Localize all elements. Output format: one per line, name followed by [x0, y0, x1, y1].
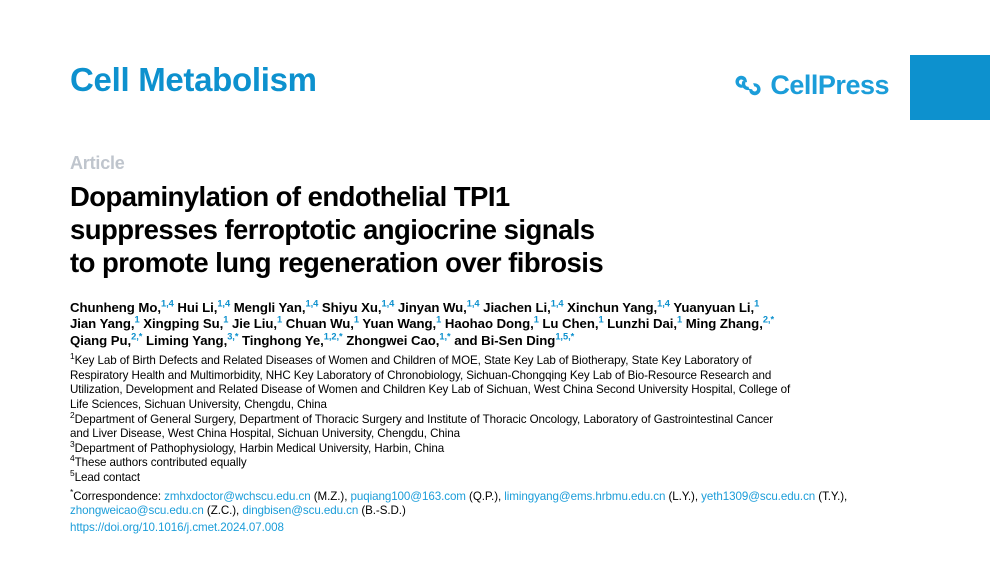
affiliation-item: 3Department of Pathophysiology, Harbin M…	[70, 442, 920, 457]
article-type-label: Article	[70, 152, 920, 174]
correspondence-initials: (L.Y.),	[665, 490, 701, 503]
brand-color-block	[910, 55, 990, 120]
author-affiliation-mark: 2,*	[131, 331, 142, 341]
author-line: Chunheng Mo,1,4 Hui Li,1,4 Mengli Yan,1,…	[70, 300, 920, 316]
affiliation-line: 2Department of General Surgery, Departme…	[70, 413, 920, 428]
affiliation-item: 1Key Lab of Birth Defects and Related Di…	[70, 354, 920, 412]
author-name: Haohao Dong,	[441, 316, 533, 331]
correspondence-block: *Correspondence: zmhxdoctor@wchscu.edu.c…	[70, 490, 900, 519]
cellpress-logo[interactable]: CellPress	[735, 72, 889, 99]
correspondence-email[interactable]: limingyang@ems.hrbmu.edu.cn	[504, 490, 665, 503]
affiliation-line: Life Sciences, Sichuan University, Cheng…	[70, 398, 920, 413]
author-list: Chunheng Mo,1,4 Hui Li,1,4 Mengli Yan,1,…	[70, 300, 920, 349]
affiliation-number: 1	[70, 351, 75, 361]
author-name: Chunheng Mo,	[70, 300, 161, 315]
affiliation-list: 1Key Lab of Birth Defects and Related Di…	[70, 354, 920, 485]
correspondence-label: Correspondence:	[73, 490, 164, 503]
correspondence-initials: (T.Y.),	[815, 490, 847, 503]
affiliation-number: 5	[70, 468, 75, 478]
title-line: suppresses ferroptotic angiocrine signal…	[70, 213, 920, 246]
author-name: Lunzhi Dai,	[604, 316, 677, 331]
author-affiliation-mark: 1,2,*	[324, 331, 343, 341]
correspondence-initials: (M.Z.),	[311, 490, 351, 503]
affiliation-line: 4These authors contributed equally	[70, 456, 920, 471]
author-name: Lu Chen,	[539, 316, 599, 331]
author-affiliation-mark: 1,4	[382, 299, 395, 309]
article-header-page: Cell Metabolism CellPress Article Dopami…	[0, 0, 990, 575]
affiliation-number: 4	[70, 454, 75, 464]
author-affiliation-mark: 1,4	[657, 299, 670, 309]
correspondence-email[interactable]: puqiang100@163.com	[350, 490, 465, 503]
correspondence-initials: (Z.C.),	[204, 504, 243, 517]
correspondence-initials: (B.-S.D.)	[358, 504, 406, 517]
cellpress-link-icon	[735, 74, 761, 97]
author-name: Liming Yang,	[142, 333, 227, 348]
affiliation-item: 4These authors contributed equally	[70, 456, 920, 471]
correspondence-email[interactable]: zmhxdoctor@wchscu.edu.cn	[164, 490, 310, 503]
author-name: Shiyu Xu,	[318, 300, 381, 315]
affiliation-number: 3	[70, 439, 75, 449]
author-name: Yuan Wang,	[359, 316, 436, 331]
author-line: Qiang Pu,2,* Liming Yang,3,* Tinghong Ye…	[70, 333, 920, 349]
author-affiliation-mark: 2,*	[763, 315, 774, 325]
author-affiliation-mark: 1,4	[551, 299, 564, 309]
author-name: Chuan Wu,	[282, 316, 354, 331]
author-name: Hui Li,	[174, 300, 218, 315]
author-name: Xinchun Yang,	[564, 300, 658, 315]
author-affiliation-mark: 1,5,*	[555, 331, 574, 341]
cellpress-wordmark: CellPress	[770, 72, 889, 99]
author-name: and Bi-Sen Ding	[451, 333, 556, 348]
page-title: Dopaminylation of endothelial TPI1 suppr…	[70, 180, 920, 279]
author-name: Qiang Pu,	[70, 333, 131, 348]
affiliation-item: 5Lead contact	[70, 471, 920, 486]
author-affiliation-mark: 1	[754, 299, 759, 309]
author-affiliation-mark: 1,*	[439, 331, 450, 341]
affiliation-line: 1Key Lab of Birth Defects and Related Di…	[70, 354, 920, 369]
correspondence-email[interactable]: zhongweicao@scu.edu.cn	[70, 504, 204, 517]
affiliation-number: 2	[70, 410, 75, 420]
author-name: Xingping Su,	[140, 316, 224, 331]
affiliation-line: Respiratory Health and Multimorbidity, N…	[70, 369, 920, 384]
doi-link[interactable]: https://doi.org/10.1016/j.cmet.2024.07.0…	[70, 520, 920, 535]
author-affiliation-mark: 1,4	[217, 299, 230, 309]
author-name: Mengli Yan,	[230, 300, 305, 315]
author-name: Jie Liu,	[228, 316, 277, 331]
affiliation-item: 2Department of General Surgery, Departme…	[70, 413, 920, 442]
author-name: Jian Yang,	[70, 316, 135, 331]
masthead: Cell Metabolism CellPress	[0, 55, 990, 125]
affiliation-line: and Liver Disease, West China Hospital, …	[70, 427, 920, 442]
correspondence-email[interactable]: yeth1309@scu.edu.cn	[701, 490, 815, 503]
correspondence-initials: (Q.P.),	[466, 490, 504, 503]
author-affiliation-mark: 3,*	[227, 331, 238, 341]
author-affiliation-mark: 1,4	[305, 299, 318, 309]
author-affiliation-mark: 1,4	[467, 299, 480, 309]
affiliation-line: Utilization, Development and Related Dis…	[70, 383, 920, 398]
title-line: Dopaminylation of endothelial TPI1	[70, 180, 920, 213]
article-header-content: Article Dopaminylation of endothelial TP…	[70, 152, 920, 535]
correspondence-email[interactable]: dingbisen@scu.edu.cn	[242, 504, 358, 517]
author-affiliation-mark: 1,4	[161, 299, 174, 309]
author-name: Jinyan Wu,	[394, 300, 466, 315]
author-name: Ming Zhang,	[682, 316, 763, 331]
journal-title: Cell Metabolism	[70, 60, 317, 100]
author-name: Zhongwei Cao,	[343, 333, 440, 348]
author-line: Jian Yang,1 Xingping Su,1 Jie Liu,1 Chua…	[70, 316, 920, 332]
title-line: to promote lung regeneration over fibros…	[70, 246, 920, 279]
author-name: Yuanyuan Li,	[670, 300, 754, 315]
author-name: Jiachen Li,	[480, 300, 551, 315]
affiliation-line: 5Lead contact	[70, 471, 920, 486]
affiliation-line: 3Department of Pathophysiology, Harbin M…	[70, 442, 920, 457]
author-name: Tinghong Ye,	[238, 333, 323, 348]
